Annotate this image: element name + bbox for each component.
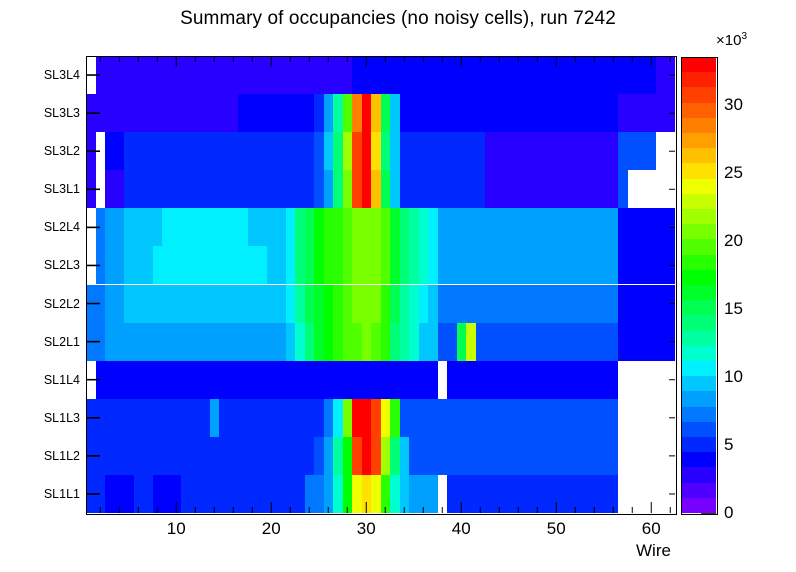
x-axis-tick-label-60: 60	[642, 519, 661, 539]
colorbar-tick-label-15: 15	[724, 299, 743, 319]
y-axis-label-sl3l3: SL3L3	[44, 106, 80, 120]
y-axis-label-sl1l4: SL1L4	[44, 373, 80, 387]
colorbar-tick-label-5: 5	[724, 435, 733, 455]
colorbar-gradient[interactable]	[681, 57, 716, 513]
y-axis-label-sl3l2: SL3L2	[44, 144, 80, 158]
heatmap-plot-area[interactable]	[86, 56, 675, 513]
colorbar-tick-label-20: 20	[724, 231, 743, 251]
colorbar-tick-label-30: 30	[724, 95, 743, 115]
colorbar-tick-label-0: 0	[724, 503, 733, 523]
root-canvas-pad: Summary of occupancies (no noisy cells),…	[0, 0, 796, 572]
y-axis-label-sl1l1: SL1L1	[44, 487, 80, 501]
y-axis-label-sl2l3: SL2L3	[44, 258, 80, 272]
colorbar-exponent-power: 3	[741, 31, 747, 42]
colorbar-exponent-label: ×103	[716, 31, 747, 49]
y-axis-labels: SL1L1SL1L2SL1L3SL1L4SL2L1SL2L2SL2L3SL2L4…	[0, 0, 80, 572]
y-axis-label-sl2l4: SL2L4	[44, 220, 80, 234]
page-title: Summary of occupancies (no noisy cells),…	[0, 8, 796, 30]
colorbar-tick-label-10: 10	[724, 367, 743, 387]
colorbar-tick-label-25: 25	[724, 163, 743, 183]
x-axis-tick-label-10: 10	[167, 519, 186, 539]
x-axis-tick-label-40: 40	[452, 519, 471, 539]
x-axis-tick-label-50: 50	[547, 519, 566, 539]
colorbar-exponent-base: ×10	[716, 32, 741, 49]
x-axis-title: Wire	[636, 541, 671, 561]
y-axis-label-sl1l3: SL1L3	[44, 411, 80, 425]
x-axis-tick-label-20: 20	[262, 519, 281, 539]
y-axis-label-sl2l2: SL2L2	[44, 297, 80, 311]
y-axis-label-sl3l4: SL3L4	[44, 68, 80, 82]
y-axis-label-sl3l1: SL3L1	[44, 182, 80, 196]
y-axis-label-sl1l2: SL1L2	[44, 449, 80, 463]
y-axis-label-sl2l1: SL2L1	[44, 335, 80, 349]
x-axis-tick-label-30: 30	[357, 519, 376, 539]
